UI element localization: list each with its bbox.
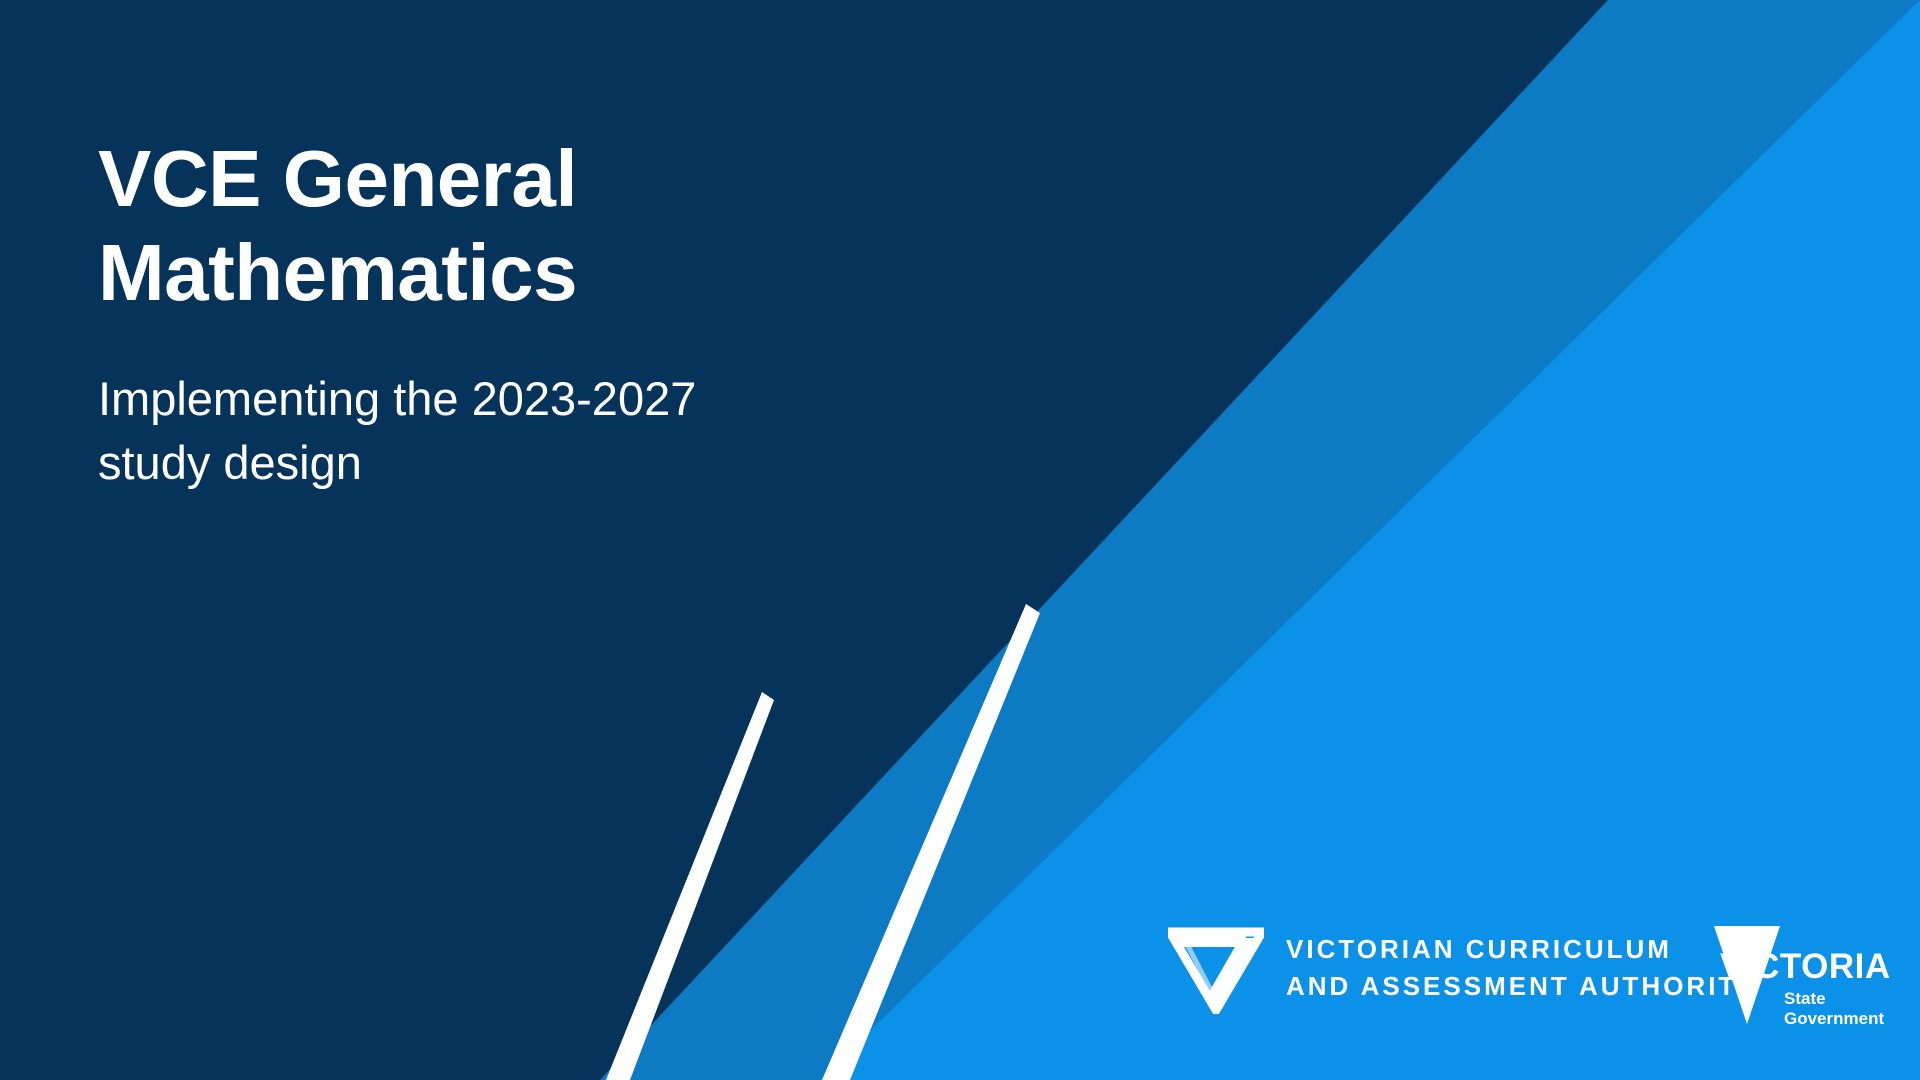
vcaa-v-mark-icon xyxy=(1168,922,1264,1014)
title-text-block: VCE General Mathematics Implementing the… xyxy=(98,132,978,495)
victoria-tagline-line1: State xyxy=(1784,989,1826,1008)
victoria-wordmark: VICTORIA xyxy=(1720,947,1891,986)
victoria-state-government-logo: VICTORIA State Government xyxy=(1700,912,1900,1040)
presentation-title-slide: VCE General Mathematics Implementing the… xyxy=(0,0,1920,1080)
slide-subtitle: Implementing the 2023-2027 study design xyxy=(98,367,978,495)
vcaa-wordmark: VICTORIAN CURRICULUM AND ASSESSMENT AUTH… xyxy=(1286,931,1758,1005)
vcaa-wordmark-line2: AND ASSESSMENT AUTHORITY xyxy=(1286,968,1758,1005)
vcaa-logo: VICTORIAN CURRICULUM AND ASSESSMENT AUTH… xyxy=(1168,922,1758,1014)
slide-title: VCE General Mathematics xyxy=(98,132,978,321)
victoria-tagline-line2: Government xyxy=(1784,1009,1884,1028)
vcaa-wordmark-line1: VICTORIAN CURRICULUM xyxy=(1286,931,1758,968)
